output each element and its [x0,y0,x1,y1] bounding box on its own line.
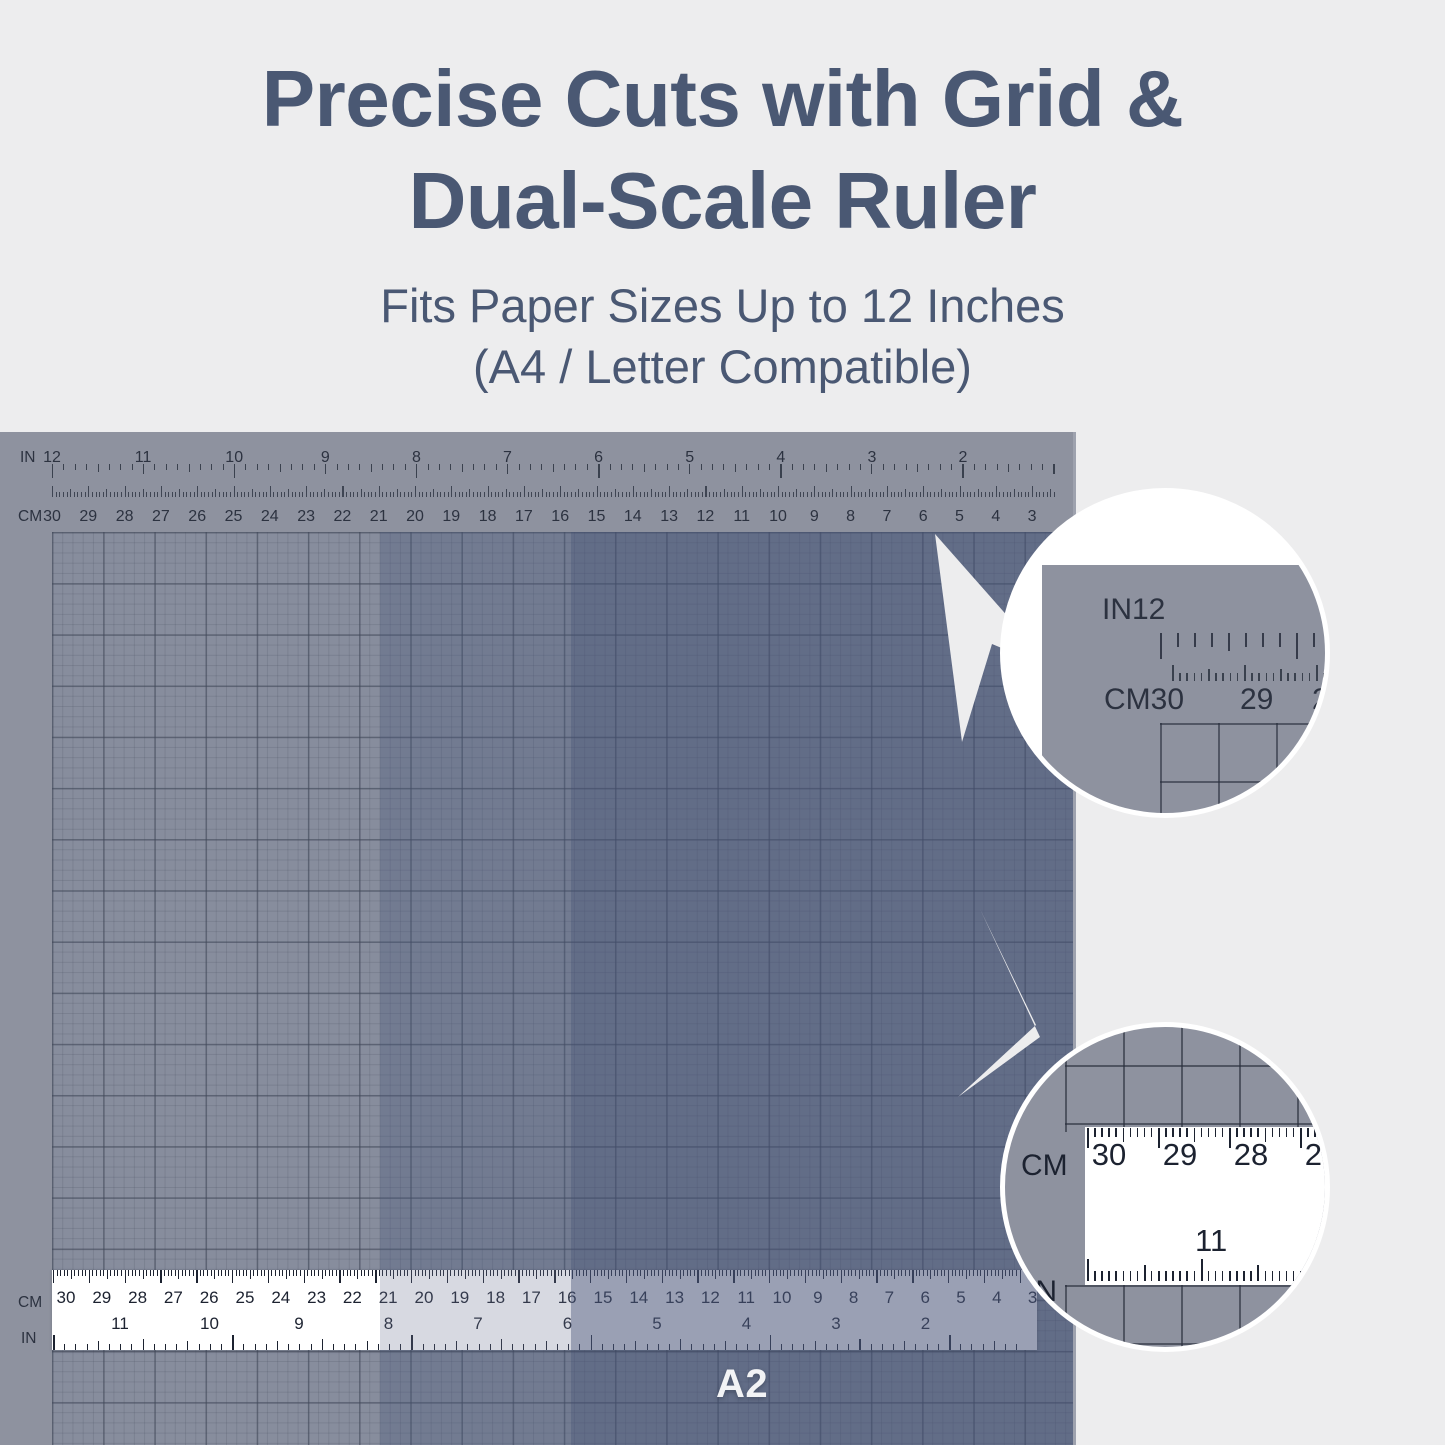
magnified-inch-ticks [1160,633,1330,659]
ruler-number: 11 [111,1314,129,1334]
magnifier-dual-scale-ruler: CM IN 30292827 11 [1000,1022,1330,1352]
ruler-number: 20 [406,508,424,526]
ruler-number: 28 [128,1288,147,1308]
ruler-number: 6 [594,449,603,467]
ruler-number: 25 [236,1288,255,1308]
ruler-number: 6 [919,508,928,526]
ruler-number: 23 [297,508,315,526]
magnified-grid-below [1065,1285,1330,1352]
ruler-number: 14 [624,508,642,526]
ruler-number: 11 [135,449,152,467]
magnified-cm-unit: CM30 [1104,683,1184,717]
cutting-mat: A2 A3 A4 IN CM 12111098765432 3029282726… [0,432,1076,1445]
magnified-cm-29: 29 [1240,683,1273,717]
ruler-number: 26 [188,508,206,526]
ruler-number: 30 [1092,1137,1126,1173]
ruler-number: 8 [846,508,855,526]
ruler-number: 13 [660,508,678,526]
ruler-number: 27 [164,1288,183,1308]
ruler-number: 9 [321,449,330,467]
ruler-number: 10 [200,1314,219,1334]
subhead-line-2: (A4 / Letter Compatible) [0,336,1445,397]
white-ruler-inch-label: IN [21,1330,37,1348]
ruler-number: 11 [733,508,750,526]
ruler-number: 27 [152,508,170,526]
inch-unit-label: IN [20,449,36,467]
magnified-ruler-inch-11: 11 [1195,1223,1227,1259]
mt-in-12: 12 [1132,593,1165,626]
ruler-number: 28 [116,508,134,526]
ruler-number: 2 [959,449,968,467]
mt-cm-word: CM [1104,683,1151,716]
ruler-number: 9 [810,508,819,526]
ruler-number: 5 [685,449,694,467]
page-title: Precise Cuts with Grid & Dual-Scale Rule… [0,48,1445,253]
ruler-number: 24 [261,508,279,526]
magnified-cm-ticks [1172,665,1330,681]
page-subtitle: Fits Paper Sizes Up to 12 Inches (A4 / L… [0,275,1445,397]
ruler-number: 18 [479,508,497,526]
ruler-number: 24 [271,1288,290,1308]
white-ruler-cm-label: CM [18,1294,42,1312]
magnified-grid-above [1065,1022,1330,1132]
ruler-number: 29 [79,508,97,526]
ruler-number: 7 [882,508,891,526]
ruler-number: 22 [343,1288,362,1308]
subhead-line-1: Fits Paper Sizes Up to 12 Inches [0,275,1445,336]
ruler-number: 30 [57,1288,76,1308]
ruler-number: 28 [1234,1137,1268,1173]
ruler-number: 3 [867,449,876,467]
ruler-number: 29 [92,1288,111,1308]
ruler-number: 23 [307,1288,326,1308]
magnifier-corner-ruler: IN12 11 CM30 29 28 [1000,488,1330,818]
ruler-number: 21 [370,508,388,526]
ruler-number: 22 [333,508,351,526]
ruler-number: 29 [1163,1137,1197,1173]
magnified-ruler-inch-label: IN [1027,1275,1057,1309]
ruler-number: 30 [43,508,61,526]
magnified-ruler-cm-label: CM [1021,1149,1068,1183]
ruler-number: 4 [776,449,785,467]
ruler-number: 16 [551,508,569,526]
paper-label-a2: A2 [716,1362,768,1407]
ruler-number: 12 [43,449,61,467]
magnified-inch-unit: IN12 [1102,593,1165,627]
cm-tick-marks [52,486,1055,497]
ruler-number: 15 [588,508,606,526]
mt-cm-30: 30 [1151,683,1184,716]
magnified-ruler-inch-ticks [1087,1259,1330,1281]
cm-unit-label: CM [18,508,42,526]
ruler-number: 9 [294,1314,303,1334]
ruler-number: 4 [991,508,1000,526]
ruler-number: 26 [200,1288,219,1308]
mt-in-word: IN [1102,593,1132,626]
ruler-number: 25 [225,508,243,526]
mat-top-ruler: IN CM 12111098765432 3029282726252423222… [0,432,1076,532]
ruler-number: 12 [696,508,714,526]
dual-scale-ruler[interactable]: 3029282726252423222120191817161514131211… [52,1270,1037,1350]
magnified-grid [1160,723,1330,818]
ruler-number: 7 [503,449,512,467]
header-banner: Precise Cuts with Grid & Dual-Scale Rule… [0,0,1445,432]
headline-line-2: Dual-Scale Ruler [0,150,1445,252]
ruler-shade-a2 [571,1270,1037,1350]
ruler-number: 10 [769,508,787,526]
headline-line-1: Precise Cuts with Grid & [0,48,1445,150]
ruler-number: 8 [412,449,421,467]
ruler-number: 19 [442,508,460,526]
ruler-number: 10 [225,449,243,467]
magnified-mat-surface: IN12 11 CM30 29 28 [1042,565,1330,818]
ruler-number: 5 [955,508,964,526]
ruler-number: 17 [515,508,533,526]
inch-tick-marks [52,464,1055,478]
